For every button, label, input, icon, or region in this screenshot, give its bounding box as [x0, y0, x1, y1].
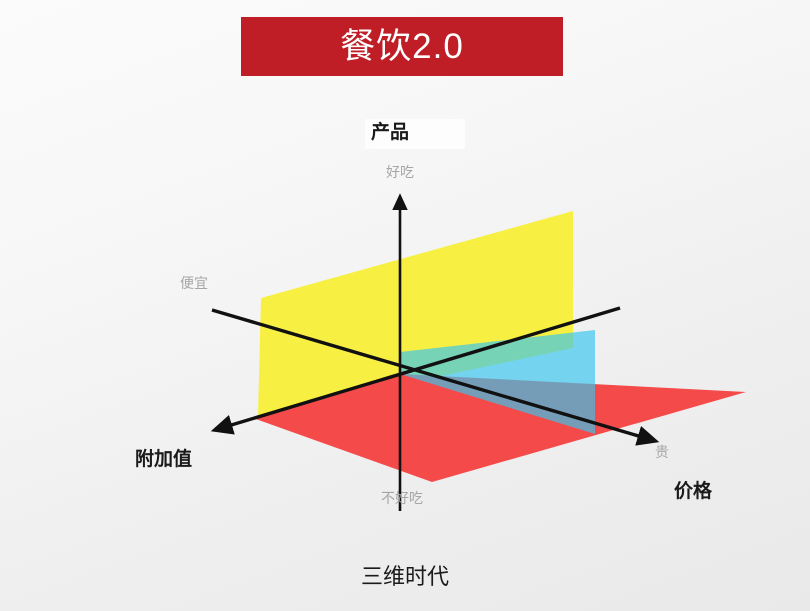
axis-tick-label-cheap: 便宜: [180, 276, 208, 290]
diagram-svg: [0, 0, 810, 611]
slide-canvas: 餐饮2.0 产品 好吃 不好吃: [0, 0, 810, 611]
axis-tick-label-good-taste: 好吃: [386, 165, 414, 179]
axis-label-price: 价格: [674, 482, 712, 501]
axis-tick-label-expensive: 贵: [655, 445, 669, 459]
axis-tick-label-bad-taste: 不好吃: [381, 491, 423, 505]
axis-label-product: 产品: [371, 123, 409, 142]
three-dimensional-axis-diagram: 产品 好吃 不好吃 便宜 贵 附加值 价格: [0, 0, 810, 611]
axis-label-added-value: 附加值: [135, 450, 192, 469]
footer-caption: 三维时代: [0, 566, 810, 588]
